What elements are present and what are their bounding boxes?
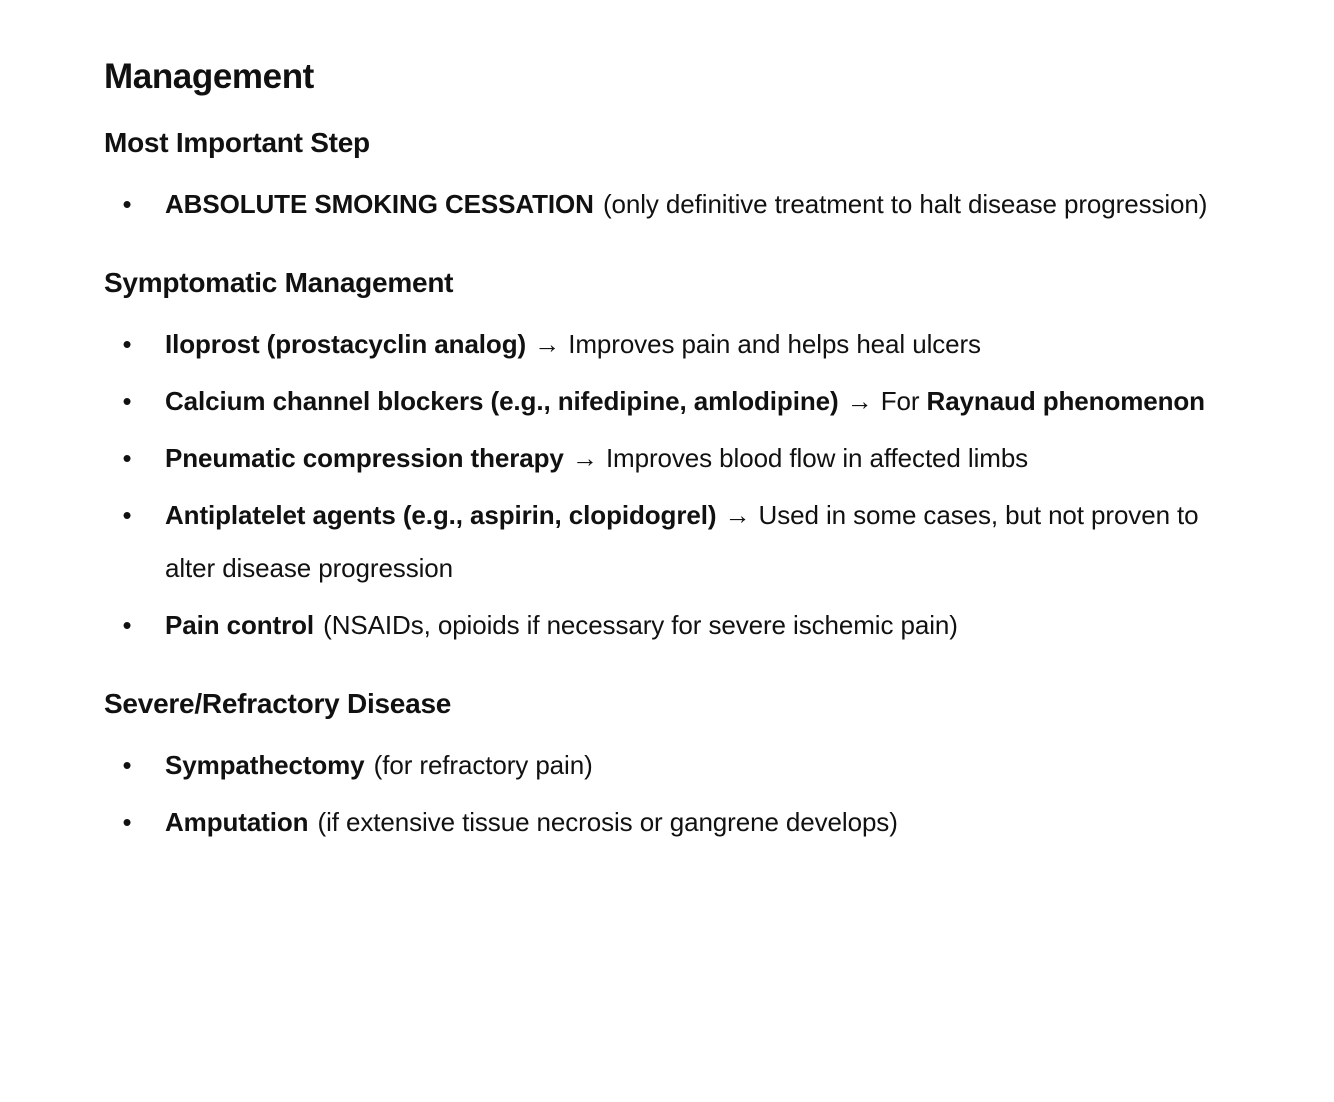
arrow-icon: → (716, 500, 758, 530)
list-item: •Antiplatelet agents (e.g., aspirin, clo… (104, 489, 1230, 595)
list-item-detail: (if extensive tissue necrosis or gangren… (310, 807, 897, 837)
section-most-important-step: Most Important Step •ABSOLUTE SMOKING CE… (104, 125, 1230, 231)
document-page: Management Most Important Step •ABSOLUTE… (0, 0, 1334, 1102)
bullet-icon: • (122, 796, 132, 849)
section-heading: Most Important Step (104, 125, 1230, 160)
section-heading: Severe/Refractory Disease (104, 686, 1230, 721)
list-item: •ABSOLUTE SMOKING CESSATION (only defini… (104, 178, 1230, 231)
list-item-detail: (for refractory pain) (367, 750, 593, 780)
list-item-lead: Antiplatelet agents (e.g., aspirin, clop… (165, 500, 716, 530)
arrow-icon: → (526, 329, 568, 359)
list-item-lead: Sympathectomy (165, 750, 365, 780)
list-item-lead: Pneumatic compression therapy (165, 443, 564, 473)
bullet-icon: • (122, 178, 132, 231)
bullet-list: •Iloprost (prostacyclin analog) → Improv… (104, 318, 1230, 652)
list-item: •Pain control (NSAIDs, opioids if necess… (104, 599, 1230, 652)
section-heading: Symptomatic Management (104, 265, 1230, 300)
page-title: Management (104, 56, 1230, 99)
list-item-lead: Amputation (165, 807, 308, 837)
list-item-detail: Improves blood flow in affected limbs (606, 443, 1028, 473)
list-item: •Sympathectomy (for refractory pain) (104, 739, 1230, 792)
list-item-lead: Iloprost (prostacyclin analog) (165, 329, 526, 359)
list-item-detail: Improves pain and helps heal ulcers (568, 329, 981, 359)
bullet-icon: • (122, 318, 132, 371)
list-item-lead: ABSOLUTE SMOKING CESSATION (165, 189, 594, 219)
bullet-icon: • (122, 599, 132, 652)
list-item-detail: (NSAIDs, opioids if necessary for severe… (316, 610, 958, 640)
bullet-list: •Sympathectomy (for refractory pain) •Am… (104, 739, 1230, 849)
list-item-lead: Calcium channel blockers (e.g., nifedipi… (165, 386, 839, 416)
arrow-icon: → (564, 443, 606, 473)
bullet-icon: • (122, 432, 132, 485)
bullet-icon: • (122, 739, 132, 792)
list-item-detail: (only definitive treatment to halt disea… (596, 189, 1208, 219)
list-item-tail: Raynaud phenomenon (927, 386, 1205, 416)
arrow-icon: → (839, 386, 881, 416)
bullet-list: •ABSOLUTE SMOKING CESSATION (only defini… (104, 178, 1230, 231)
list-item: •Pneumatic compression therapy → Improve… (104, 432, 1230, 485)
list-item-lead: Pain control (165, 610, 314, 640)
list-item: •Calcium channel blockers (e.g., nifedip… (104, 375, 1230, 428)
section-symptomatic-management: Symptomatic Management •Iloprost (prosta… (104, 265, 1230, 652)
list-item: •Amputation (if extensive tissue necrosi… (104, 796, 1230, 849)
bullet-icon: • (122, 489, 132, 542)
list-item-detail: For (881, 386, 927, 416)
section-severe-refractory-disease: Severe/Refractory Disease •Sympathectomy… (104, 686, 1230, 849)
list-item: •Iloprost (prostacyclin analog) → Improv… (104, 318, 1230, 371)
bullet-icon: • (122, 375, 132, 428)
